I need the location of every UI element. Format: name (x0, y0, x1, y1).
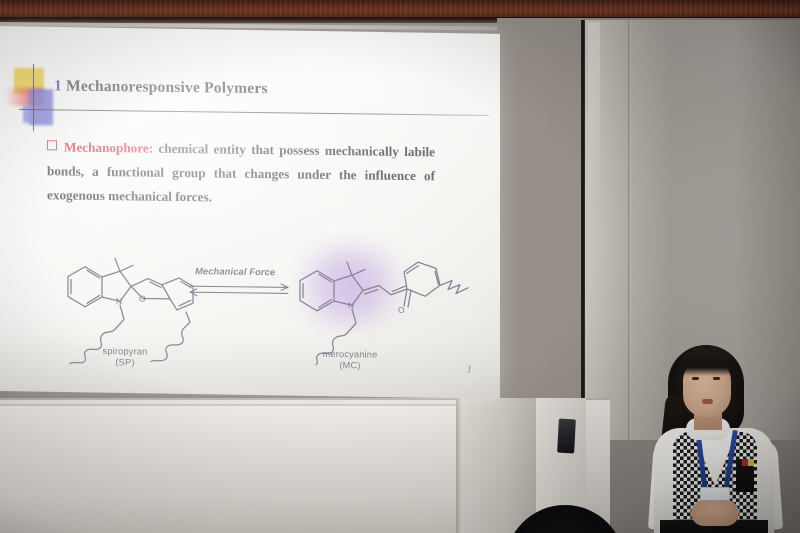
spiropyran-label: spiropyran (SP) (80, 346, 170, 369)
whiteboard-frame (0, 404, 462, 533)
presenter-eye-left (692, 377, 699, 380)
presenter-vest-pocket (736, 466, 754, 492)
presenter-eye-right (713, 377, 720, 380)
presenter-hair-fringe (679, 348, 735, 376)
projection-screen: 1 Mechanoresponsive Polymers Mechanophor… (0, 26, 500, 399)
reaction-scheme: N O N O (0, 27, 500, 399)
presenter-ribbon-pin (736, 459, 754, 466)
atom-label-n-mc: N (348, 300, 354, 310)
slide-number: 1 (467, 364, 473, 376)
whiteboard-marker-icon (557, 419, 576, 454)
presenter-mouth (702, 399, 713, 404)
atom-label-o-sp: O (139, 293, 146, 303)
equilibrium-arrow (190, 283, 288, 297)
arrow-label: Mechanical Force (195, 265, 275, 277)
presentation-slide: 1 Mechanoresponsive Polymers Mechanophor… (0, 27, 500, 399)
atom-label-o-mc: O (398, 305, 405, 315)
panel-gloss (588, 22, 600, 202)
atom-label-n-sp: N (116, 296, 122, 306)
whiteboard-divider (456, 398, 461, 533)
merocyanine-abbrev: (MC) (300, 360, 400, 372)
panel-edge (628, 20, 631, 440)
photo-scene: 1 Mechanoresponsive Polymers Mechanophor… (0, 0, 800, 533)
spiropyran-abbrev: (SP) (80, 357, 170, 369)
whiteboard-panel-2 (461, 398, 536, 533)
wall-seam (581, 20, 585, 420)
merocyanine-label: merocyanine (MC) (300, 349, 400, 372)
presenter-hands (691, 500, 739, 526)
